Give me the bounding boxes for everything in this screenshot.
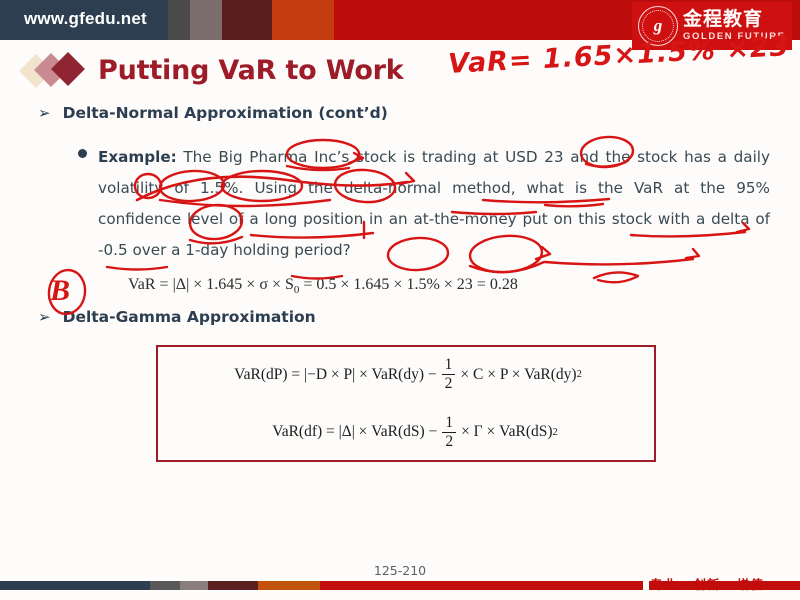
ink-underline-stock2 bbox=[107, 267, 167, 270]
header-segment-mauve bbox=[190, 0, 222, 40]
var-equation-tail: = 0.5 × 1.645 × 1.5% × 23 = 0.28 bbox=[299, 276, 517, 293]
arrow-bullet-icon-2: ➢ bbox=[38, 310, 51, 325]
diamond-decoration-icon bbox=[22, 52, 98, 88]
formula2-numerator: 1 bbox=[442, 415, 456, 433]
formula1-fraction: 1 2 bbox=[442, 357, 456, 393]
formula1-lhs: VaR(dP) = |−D × P| × VaR(dy) − bbox=[234, 366, 436, 384]
site-url-label: www.gfedu.net bbox=[24, 9, 147, 29]
formula2-lhs: VaR(df) = |Δ| × VaR(dS) − bbox=[272, 423, 437, 441]
var-equation-line: VaR = |Δ| × 1.645 × σ × S0 = 0.5 × 1.645… bbox=[128, 276, 518, 296]
example-body-text: The Big Pharma Inc’s stock is trading at… bbox=[98, 148, 770, 259]
slide-canvas: www.gfedu.net g 金程教育 GOLDEN FUTURE Putti… bbox=[0, 0, 800, 600]
footer-segment-red bbox=[320, 581, 643, 590]
formula-line-2: VaR(df) = |Δ| × VaR(dS) − 1 2 × Γ × VaR(… bbox=[158, 415, 654, 451]
page-title: Putting VaR to Work bbox=[98, 55, 404, 86]
slide-title-row: Putting VaR to Work bbox=[22, 52, 404, 88]
footer-segment-orange bbox=[258, 581, 320, 590]
section-heading-delta-normal: ➢ Delta-Normal Approximation (cont’d) bbox=[38, 104, 388, 122]
footer-slogan: 专业 · 创新 · 增值 bbox=[650, 574, 764, 593]
header-segment-maroon bbox=[222, 0, 272, 40]
ink-annotation-layer bbox=[0, 0, 800, 600]
formula2-fraction: 1 2 bbox=[442, 415, 456, 451]
example-paragraph: Example: The Big Pharma Inc’s stock is t… bbox=[98, 142, 770, 266]
ink-swirl-eq bbox=[594, 272, 638, 282]
footer-segment-gray bbox=[150, 581, 180, 590]
emblem-monogram: g bbox=[654, 16, 663, 36]
footer-segment-maroon bbox=[208, 581, 258, 590]
formula2-exponent: 2 bbox=[553, 427, 558, 438]
section2-heading-label: Delta-Gamma Approximation bbox=[63, 308, 316, 326]
formula1-rhs: × C × P × VaR(dy) bbox=[460, 366, 576, 384]
handwritten-mark: Β bbox=[50, 274, 70, 308]
formula2-rhs: × Γ × VaR(dS) bbox=[461, 423, 552, 441]
formula1-exponent: 2 bbox=[577, 369, 582, 380]
example-label: Example: bbox=[98, 148, 177, 166]
example-bullet-item: Example: The Big Pharma Inc’s stock is t… bbox=[78, 142, 778, 266]
formula1-numerator: 1 bbox=[442, 357, 456, 375]
round-bullet-icon bbox=[78, 149, 87, 158]
brand-name-cn: 金程教育 bbox=[683, 10, 786, 29]
footer-segment-mauve bbox=[180, 581, 208, 590]
footer-segment-navy bbox=[0, 581, 150, 590]
formula1-denominator: 2 bbox=[442, 375, 456, 392]
var-equation-head: VaR = |Δ| × 1.645 × σ × S bbox=[128, 276, 294, 293]
arrow-bullet-icon: ➢ bbox=[38, 106, 51, 121]
formula-line-1: VaR(dP) = |−D × P| × VaR(dy) − 1 2 × C ×… bbox=[158, 357, 654, 393]
section1-heading-label: Delta-Normal Approximation (cont’d) bbox=[63, 104, 388, 122]
header-segment-gray bbox=[168, 0, 190, 40]
formula-box: VaR(dP) = |−D × P| × VaR(dy) − 1 2 × C ×… bbox=[156, 345, 656, 462]
section-heading-delta-gamma: ➢ Delta-Gamma Approximation bbox=[38, 308, 316, 326]
header-segment-orange bbox=[272, 0, 334, 40]
formula2-denominator: 2 bbox=[442, 433, 456, 450]
